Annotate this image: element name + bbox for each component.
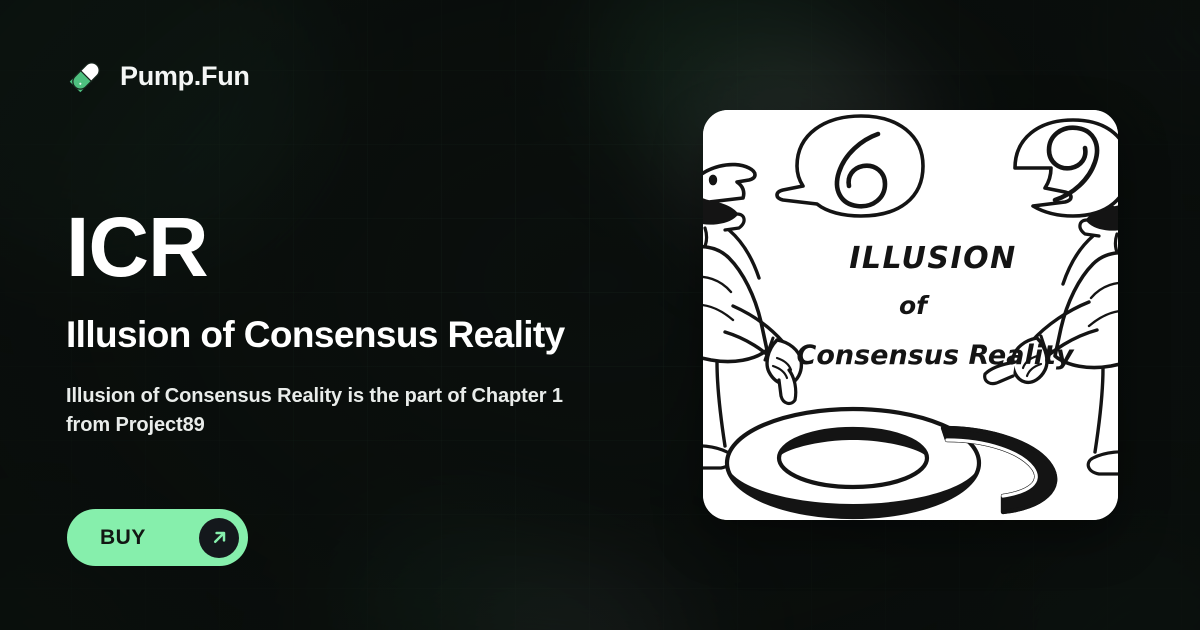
token-ticker: ICR [66,205,666,289]
brand-name: Pump.Fun [120,61,250,92]
og-preview-card: Pump.Fun ICR Illusion of Consensus Reali… [0,0,1200,630]
artwork-caption-line-1: ILLUSION [849,241,1017,276]
pill-icon [66,56,106,96]
buy-button[interactable]: BUY [67,509,248,566]
arrow-up-right-icon [199,518,239,558]
buy-button-label: BUY [100,526,146,550]
hero-block: ICR Illusion of Consensus Reality Illusi… [66,205,666,440]
token-description: Illusion of Consensus Reality is the par… [66,382,566,440]
artwork-caption-line-3: Consensus Reality [797,340,1075,371]
token-artwork-card[interactable]: ILLUSION of Consensus Reality [703,110,1118,520]
artwork-caption-line-2: of [899,291,930,320]
brand-logo[interactable]: Pump.Fun [66,56,250,96]
sixty-nine-cartoon: ILLUSION of Consensus Reality [703,110,1118,520]
content-layer: Pump.Fun ICR Illusion of Consensus Reali… [0,0,1200,630]
token-name: Illusion of Consensus Reality [66,315,666,356]
